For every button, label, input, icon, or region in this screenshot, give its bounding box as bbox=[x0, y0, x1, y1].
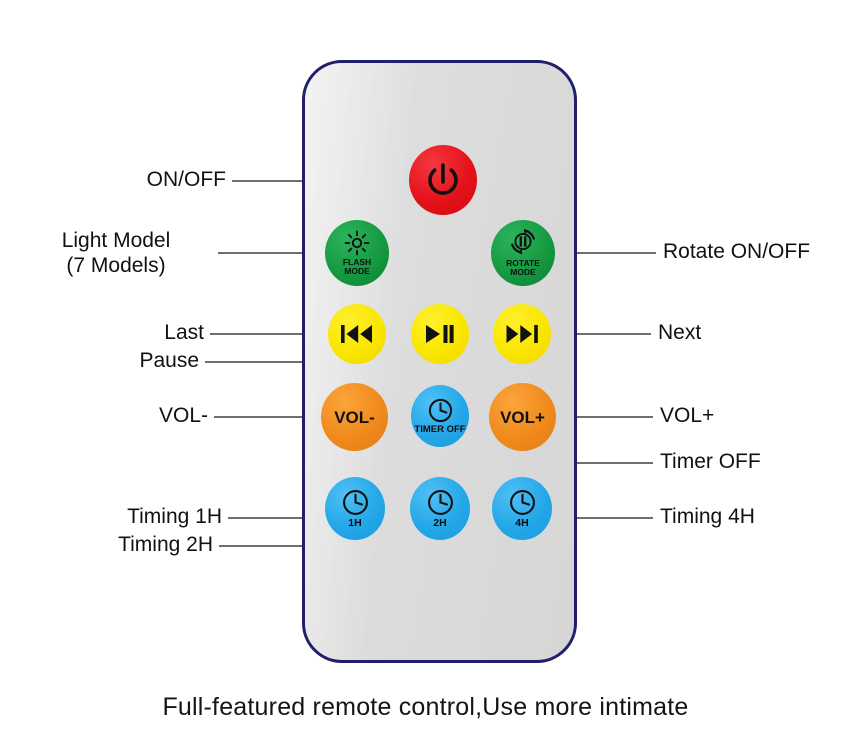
volume-up-caption: VOL+ bbox=[500, 409, 545, 426]
play-pause-button[interactable] bbox=[411, 304, 469, 364]
timer-1h-caption: 1H bbox=[348, 518, 361, 529]
callout-timing-4h: Timing 4H bbox=[660, 505, 755, 529]
timer-off-caption: TIMER OFF bbox=[414, 425, 465, 435]
callout-light-model-line2: (7 Models) bbox=[20, 253, 212, 278]
callout-timer-off: Timer OFF bbox=[660, 450, 761, 474]
volume-down-button[interactable]: VOL- bbox=[321, 383, 388, 451]
timer-4h-caption: 4H bbox=[515, 518, 528, 529]
callout-rotate-on-off: Rotate ON/OFF bbox=[663, 240, 810, 264]
callout-on-off: ON/OFF bbox=[30, 168, 226, 192]
callout-last: Last bbox=[30, 321, 204, 345]
next-track-button[interactable] bbox=[493, 304, 551, 364]
timer-4h-button[interactable]: 4H bbox=[492, 477, 552, 540]
timer-2h-caption: 2H bbox=[433, 518, 446, 529]
callout-timing-2h: Timing 2H bbox=[30, 533, 213, 557]
clock-icon bbox=[426, 488, 455, 517]
flash-mode-button[interactable]: FLASH MODE bbox=[325, 220, 389, 286]
timer-off-button[interactable]: TIMER OFF bbox=[411, 385, 469, 447]
rotate-pause-icon bbox=[508, 229, 538, 257]
volume-up-button[interactable]: VOL+ bbox=[489, 383, 556, 451]
previous-track-button[interactable] bbox=[328, 304, 386, 364]
clock-icon bbox=[341, 488, 370, 517]
callout-timing-1h: Timing 1H bbox=[30, 505, 222, 529]
sun-icon bbox=[344, 230, 370, 256]
callout-vol-down: VOL- bbox=[30, 404, 208, 428]
callout-next: Next bbox=[658, 321, 701, 345]
callout-light-model-line1: Light Model bbox=[20, 228, 212, 253]
timer-2h-button[interactable]: 2H bbox=[410, 477, 470, 540]
callout-vol-up: VOL+ bbox=[660, 404, 714, 428]
clock-icon bbox=[427, 397, 454, 424]
volume-down-caption: VOL- bbox=[334, 409, 375, 426]
previous-track-icon bbox=[339, 322, 375, 346]
callout-light-model: Light Model (7 Models) bbox=[20, 228, 212, 278]
power-button[interactable] bbox=[409, 145, 477, 215]
clock-icon bbox=[508, 488, 537, 517]
rotate-mode-button[interactable]: ROTATE MODE bbox=[491, 220, 555, 286]
timer-1h-button[interactable]: 1H bbox=[325, 477, 385, 540]
callout-pause: Pause bbox=[30, 349, 199, 373]
next-track-icon bbox=[504, 322, 540, 346]
flash-mode-caption: FLASH MODE bbox=[343, 258, 371, 277]
page-caption: Full-featured remote control,Use more in… bbox=[0, 693, 851, 722]
illustration-canvas: FLASH MODE ROTATE MODE bbox=[0, 0, 851, 744]
play-pause-icon bbox=[423, 322, 457, 346]
rotate-mode-caption: ROTATE MODE bbox=[506, 259, 540, 278]
power-icon bbox=[423, 160, 463, 200]
